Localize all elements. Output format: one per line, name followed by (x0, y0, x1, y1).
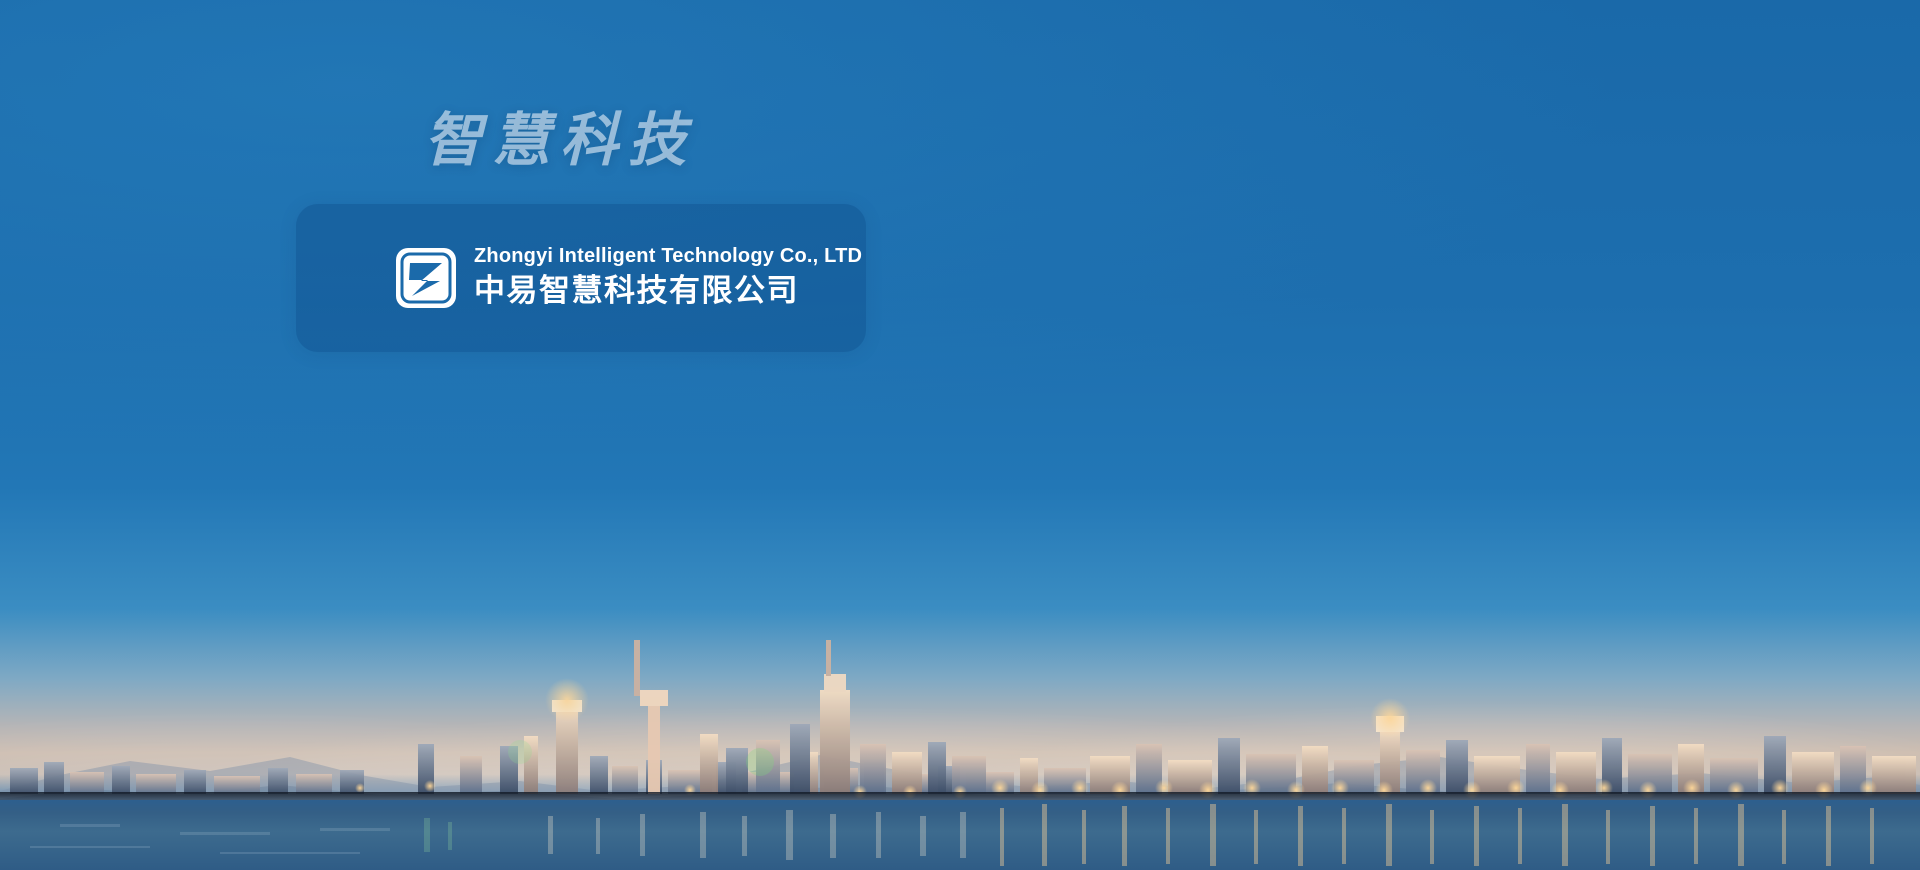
segment-title: 智慧科技 (424, 112, 866, 170)
company-name-block: Zhongyi Intelligent Technology Co., LTD … (474, 244, 862, 311)
segment-smart-technology: 智慧科技 Zhongyi Intelligent Technology Co.,… (0, 0, 960, 435)
company-card[interactable]: Zhongyi Intelligent Technology Co., LTD … (296, 204, 866, 352)
hero-banner: 智慧科技 Zhongyi Intelligent Technology Co.,… (0, 0, 1920, 870)
company-name-cn: 中易智慧科技有限公司 (474, 271, 862, 311)
segment-talent-service: 人才科技服务 NY Any technology development Co.… (0, 435, 960, 870)
zhongyi-z-logo-icon (296, 246, 474, 310)
segments-grid: 智慧科技 Zhongyi Intelligent Technology Co.,… (0, 0, 1920, 870)
segment-real-estate: 房地产开发 Yanxiang real estate development C… (960, 435, 1920, 870)
segment-fmcg: 快消品 砚 香 R Yanxiang trading Co., L (960, 0, 1920, 435)
company-name-en: Zhongyi Intelligent Technology Co., LTD (474, 244, 862, 269)
